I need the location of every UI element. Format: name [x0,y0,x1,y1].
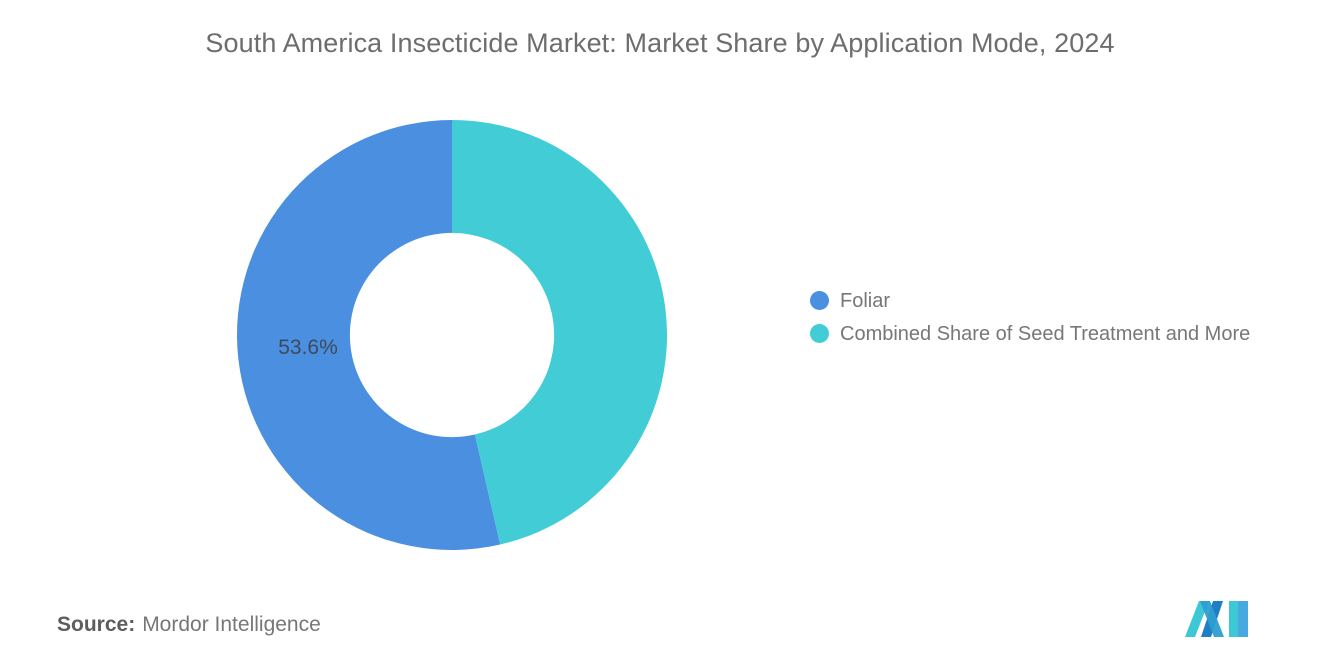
source-label: Source: [57,613,135,636]
legend-label-foliar: Foliar [840,291,890,311]
mordor-intelligence-logo-icon [1183,597,1255,639]
donut-chart [237,120,667,550]
legend-swatch-icon-combined-share [810,324,829,343]
donut-chart-svg [237,120,667,550]
source-value: Mordor Intelligence [142,613,321,636]
donut-data-label-foliar: 53.6% [258,336,358,360]
legend-label-combined-share: Combined Share of Seed Treatment and Mor… [840,324,1250,344]
chart-canvas: South America Insecticide Market: Market… [0,0,1320,665]
legend-swatch-icon-foliar [810,291,829,310]
chart-legend: Foliar Combined Share of Seed Treatment … [810,284,1310,350]
legend-item-foliar[interactable]: Foliar [810,284,1310,317]
legend-item-combined-share[interactable]: Combined Share of Seed Treatment and Mor… [810,317,1310,350]
source-line: Source:Mordor Intelligence [57,613,321,637]
chart-title: South America Insecticide Market: Market… [0,28,1320,59]
